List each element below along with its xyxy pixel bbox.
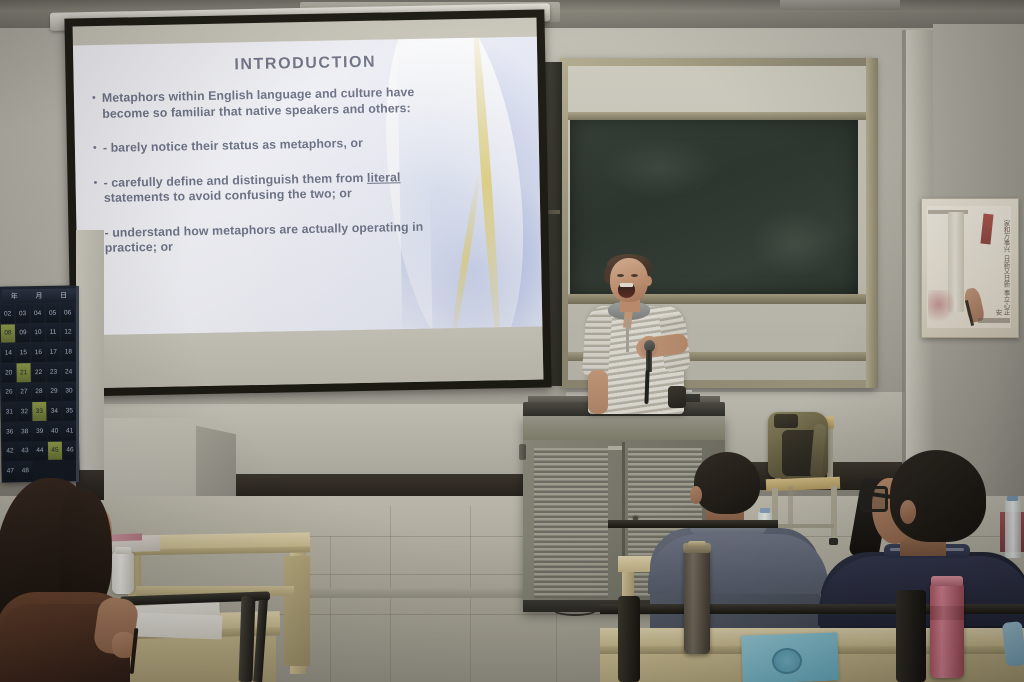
presenter-ear	[645, 276, 652, 286]
screen-blank-area	[79, 327, 544, 389]
dark-thermos-cap-top	[688, 541, 706, 546]
number-board-cell: 32	[17, 402, 31, 421]
number-board-cell: 20	[1, 363, 15, 382]
projector-screen-surface: INTRODUCTION • Metaphors within English …	[73, 18, 544, 389]
number-board-frame	[76, 286, 79, 482]
number-board-cell: 28	[32, 383, 46, 402]
student-grey-shirt-head	[694, 452, 760, 514]
papers-on-desk-second[interactable]	[136, 613, 223, 640]
left-wall-panel	[76, 230, 104, 500]
pink-bottle-band	[930, 606, 964, 620]
number-board-cell: 24	[61, 362, 75, 381]
white-bottle-cap	[115, 547, 131, 554]
chalkboard-rail-middle	[568, 294, 868, 304]
pink-bottle[interactable]	[930, 582, 964, 678]
desk-right-mid-rail	[608, 520, 778, 528]
number-board-cell: 12	[61, 323, 75, 342]
bullet-marker: •	[93, 175, 104, 206]
dark-thermos[interactable]	[684, 548, 710, 654]
presenter-shirt-placket	[626, 318, 629, 352]
number-board-cell: 04	[30, 304, 44, 323]
number-board-cell: 39	[33, 422, 47, 441]
number-board-cell: 40	[48, 422, 62, 441]
number-board-cell: 29	[47, 382, 61, 401]
number-board-cell: 44	[33, 442, 47, 461]
water-bottle-right[interactable]	[1005, 500, 1021, 558]
desk-left-side-panel	[284, 556, 310, 666]
number-board-cell: 09	[16, 324, 30, 343]
number-board-cell: 38	[18, 422, 32, 441]
student-navy-ear	[900, 500, 916, 524]
ceiling-duct-secondary	[780, 0, 900, 10]
presenter-teeth	[620, 283, 633, 287]
water-bottle-right-cap	[1007, 496, 1018, 501]
presenter-pocket-item	[668, 386, 686, 408]
wall-pillar-edge	[902, 30, 906, 500]
number-board-cell: 17	[46, 343, 60, 362]
number-board-header-cell: 年	[11, 291, 18, 301]
number-board-cell: 45	[48, 441, 62, 460]
podium-upper-panel	[523, 416, 725, 440]
number-board-cell: 47	[3, 462, 17, 481]
presentation-slide: INTRODUCTION • Metaphors within English …	[73, 37, 542, 336]
chair-leg-front-right	[831, 486, 837, 542]
lecture-hall-photo: INTRODUCTION • Metaphors within English …	[0, 0, 1024, 682]
chair-front-left-post	[239, 596, 256, 682]
bullet-text: - understand how metaphors are actually …	[104, 219, 423, 256]
backpack-flap	[774, 414, 798, 428]
number-board-cell: 02	[0, 304, 14, 323]
student-navy-glasses-lens	[860, 486, 888, 512]
number-board-cell: 11	[46, 323, 60, 342]
number-board-cell: 33	[32, 402, 46, 421]
number-board-cell: 43	[18, 442, 32, 461]
presenter-arm-left	[588, 370, 608, 414]
bullet-text: - carefully define and distinguish them …	[103, 170, 401, 207]
student-grey-shirt-ear	[690, 486, 702, 504]
number-board-cell: 31	[2, 403, 16, 422]
number-board-cell: 23	[46, 363, 60, 382]
poster-flower-motif	[928, 290, 954, 326]
number-board-header-cell: 月	[35, 291, 42, 301]
number-board-cell: 15	[16, 343, 30, 362]
presenter-eye-right	[631, 274, 638, 277]
number-board-cell: 16	[31, 343, 45, 362]
podium-side-latch[interactable]	[519, 444, 526, 460]
number-board-header: 年月日	[2, 288, 76, 303]
bullet-marker: •	[92, 91, 103, 122]
presenter-eye-left	[617, 274, 624, 277]
podium-label-sticker	[608, 446, 622, 450]
chair-back-right-front-2	[896, 590, 926, 682]
number-board-cell: 27	[17, 383, 31, 402]
number-board-cell: 26	[2, 383, 16, 402]
slide-bullet: • - carefully define and distinguish the…	[93, 168, 506, 207]
chalkboard-rail-top	[568, 112, 868, 120]
chair-back-right-front	[618, 596, 640, 682]
pink-bottle-cap	[931, 576, 963, 586]
number-board-cell: 14	[1, 344, 15, 363]
student-grey-shirt-shoulders	[648, 534, 828, 594]
white-bottle[interactable]	[112, 552, 134, 594]
floor-cable	[553, 604, 597, 616]
number-board-grid: 0203040506080910111214151617182021222324…	[0, 303, 77, 480]
number-board-cell: 05	[45, 304, 59, 323]
number-board-cell: 18	[61, 343, 75, 362]
slide-bullet: • Metaphors within English language and …	[92, 83, 505, 122]
blue-pouch[interactable]	[1002, 621, 1024, 667]
number-board-cell: 41	[63, 421, 77, 440]
number-board-cell: 06	[60, 303, 74, 322]
number-board-cell: 10	[31, 324, 45, 343]
number-board-cell: 08	[1, 324, 15, 343]
presenter-sleeve-left	[582, 311, 613, 379]
number-board-cell: 35	[62, 402, 76, 421]
podium-louver-left	[534, 448, 608, 598]
chair-foot-right	[829, 538, 838, 545]
number-board-cell: 30	[62, 382, 76, 401]
number-board-cell: 03	[15, 304, 29, 323]
student-navy-head	[890, 450, 986, 542]
bullet-marker: •	[93, 141, 103, 157]
number-board-cell: 42	[3, 442, 17, 461]
chalkboard-right-frame	[866, 58, 878, 388]
number-board-cell: 34	[47, 402, 61, 421]
number-board-header-cell: 日	[60, 291, 67, 301]
slide-bullet: • - understand how metaphors are actuall…	[94, 218, 507, 257]
water-bottle-mid-cap	[760, 508, 770, 513]
bullet-text: Metaphors within English language and cu…	[102, 85, 415, 122]
number-board-cell: 36	[3, 422, 17, 441]
poster-footer-text	[978, 318, 1010, 323]
slide-body: • Metaphors within English language and …	[92, 83, 507, 260]
number-board-cell: 21	[16, 363, 30, 382]
number-board-cell: 48	[18, 461, 32, 480]
microphone-body[interactable]	[646, 350, 652, 372]
number-board-cell: 22	[31, 363, 45, 382]
